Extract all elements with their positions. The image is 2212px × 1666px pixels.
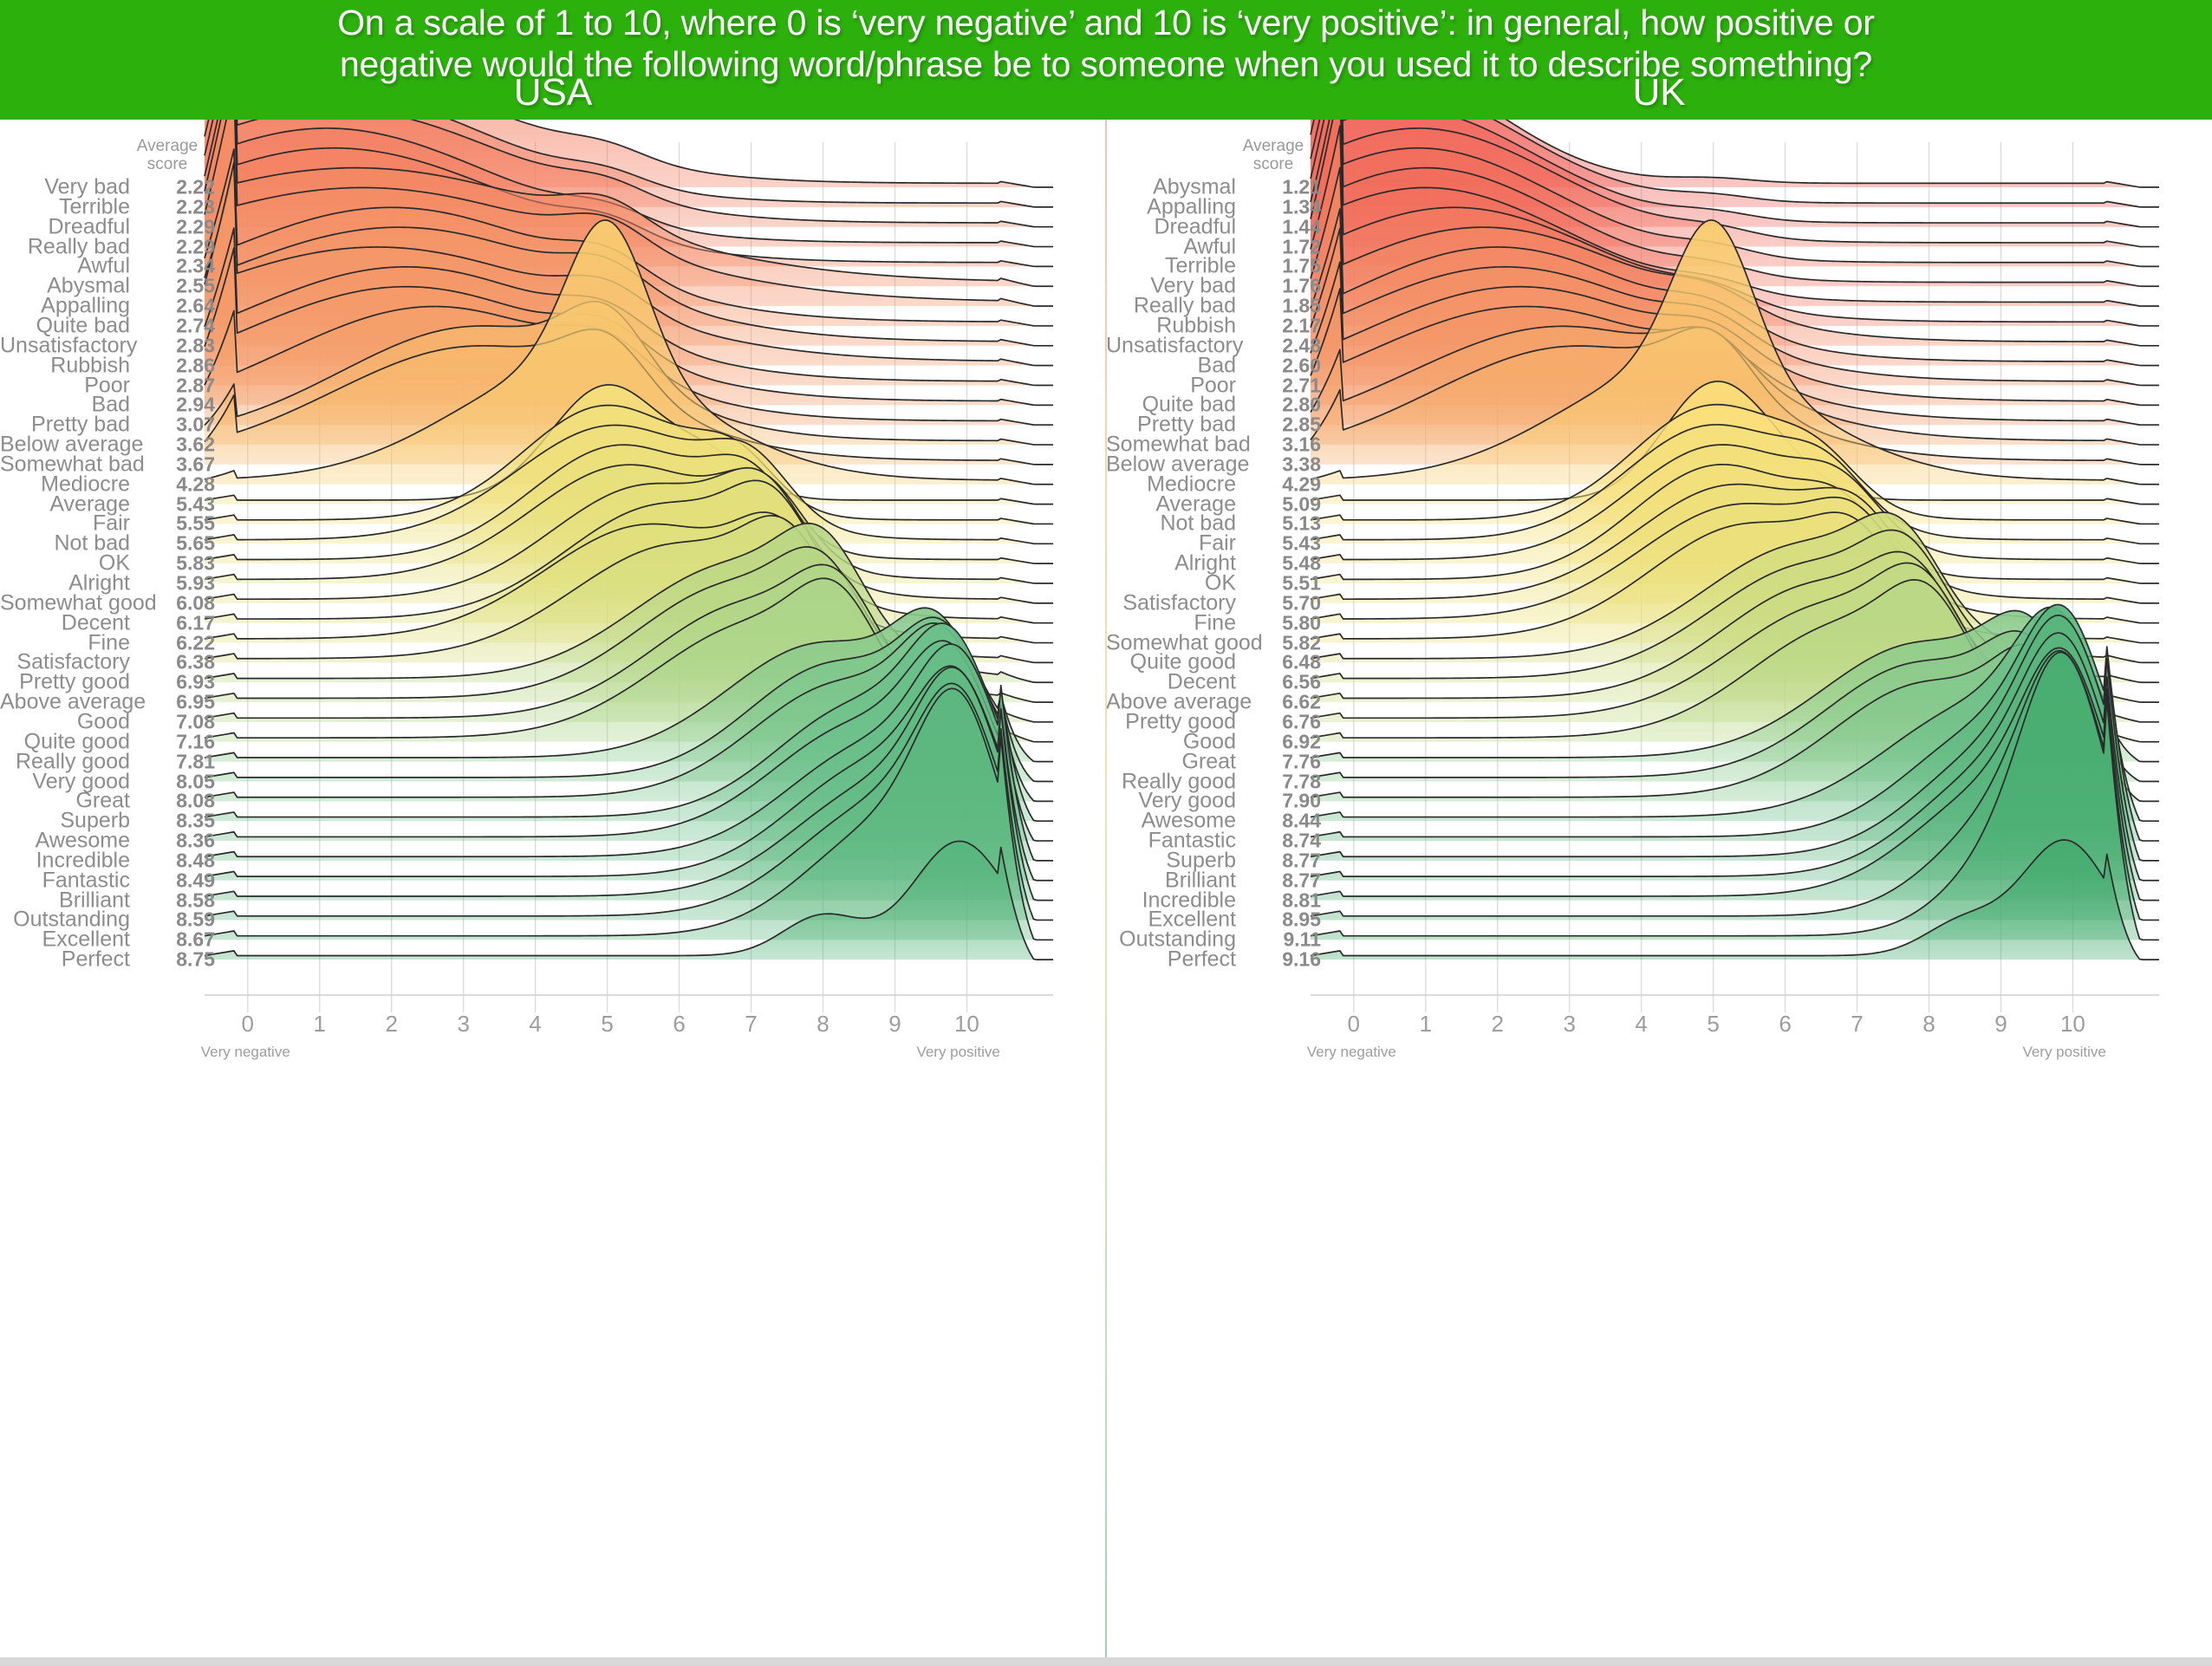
- x-axis-tick: 1: [1400, 1011, 1452, 1038]
- footer-bar: [0, 1657, 2212, 1666]
- x-axis-tick: 9: [1975, 1011, 2027, 1038]
- axis-low-label: Very negative: [201, 1044, 290, 1061]
- x-axis-tick: 6: [1760, 1011, 1812, 1038]
- average-score-header: Average score: [120, 137, 215, 173]
- x-axis-tick: 4: [510, 1011, 562, 1038]
- ridgeline-infographic: On a scale of 1 to 10, where 0 is ‘very …: [0, 0, 2212, 1666]
- row-average-score: 8.75: [120, 948, 215, 972]
- row-label: Perfect: [0, 947, 130, 973]
- row-average-score: 9.16: [1226, 948, 1321, 972]
- panel-uk: Average scoreAbysmal1.21Appalling1.34Dre…: [1106, 120, 2212, 1666]
- panel-usa: Average scoreVery bad2.22Terrible2.23Dre…: [0, 120, 1106, 1666]
- x-axis-tick: 3: [1544, 1011, 1596, 1038]
- x-axis-tick: 4: [1616, 1011, 1668, 1038]
- panel-divider: [1105, 120, 1107, 1666]
- panel-title-uk: UK: [1106, 71, 2212, 114]
- x-axis-tick: 0: [1328, 1011, 1380, 1038]
- axis-high-label: Very positive: [916, 1044, 999, 1061]
- x-axis-tick: 10: [2046, 1011, 2098, 1038]
- x-axis-tick: 6: [654, 1011, 706, 1038]
- x-axis-tick: 8: [1903, 1011, 1955, 1038]
- panel-title-usa: USA: [0, 71, 1106, 114]
- x-axis-tick: 0: [222, 1011, 274, 1038]
- axis-low-label: Very negative: [1307, 1044, 1396, 1061]
- x-axis-tick: 2: [1472, 1011, 1524, 1038]
- x-axis-tick: 5: [582, 1011, 634, 1038]
- x-axis-tick: 3: [438, 1011, 490, 1038]
- x-axis-tick: 10: [940, 1011, 992, 1038]
- header-banner: On a scale of 1 to 10, where 0 is ‘very …: [0, 0, 2212, 120]
- x-axis-tick: 5: [1688, 1011, 1740, 1038]
- x-axis-tick: 7: [1831, 1011, 1883, 1038]
- x-axis-tick: 9: [869, 1011, 921, 1038]
- x-axis-tick: 2: [366, 1011, 418, 1038]
- row-label: Perfect: [1106, 947, 1236, 973]
- average-score-header: Average score: [1226, 137, 1321, 173]
- x-axis-tick: 8: [797, 1011, 849, 1038]
- x-axis-tick: 1: [294, 1011, 346, 1038]
- x-axis-tick: 7: [725, 1011, 777, 1038]
- axis-high-label: Very positive: [2022, 1044, 2105, 1061]
